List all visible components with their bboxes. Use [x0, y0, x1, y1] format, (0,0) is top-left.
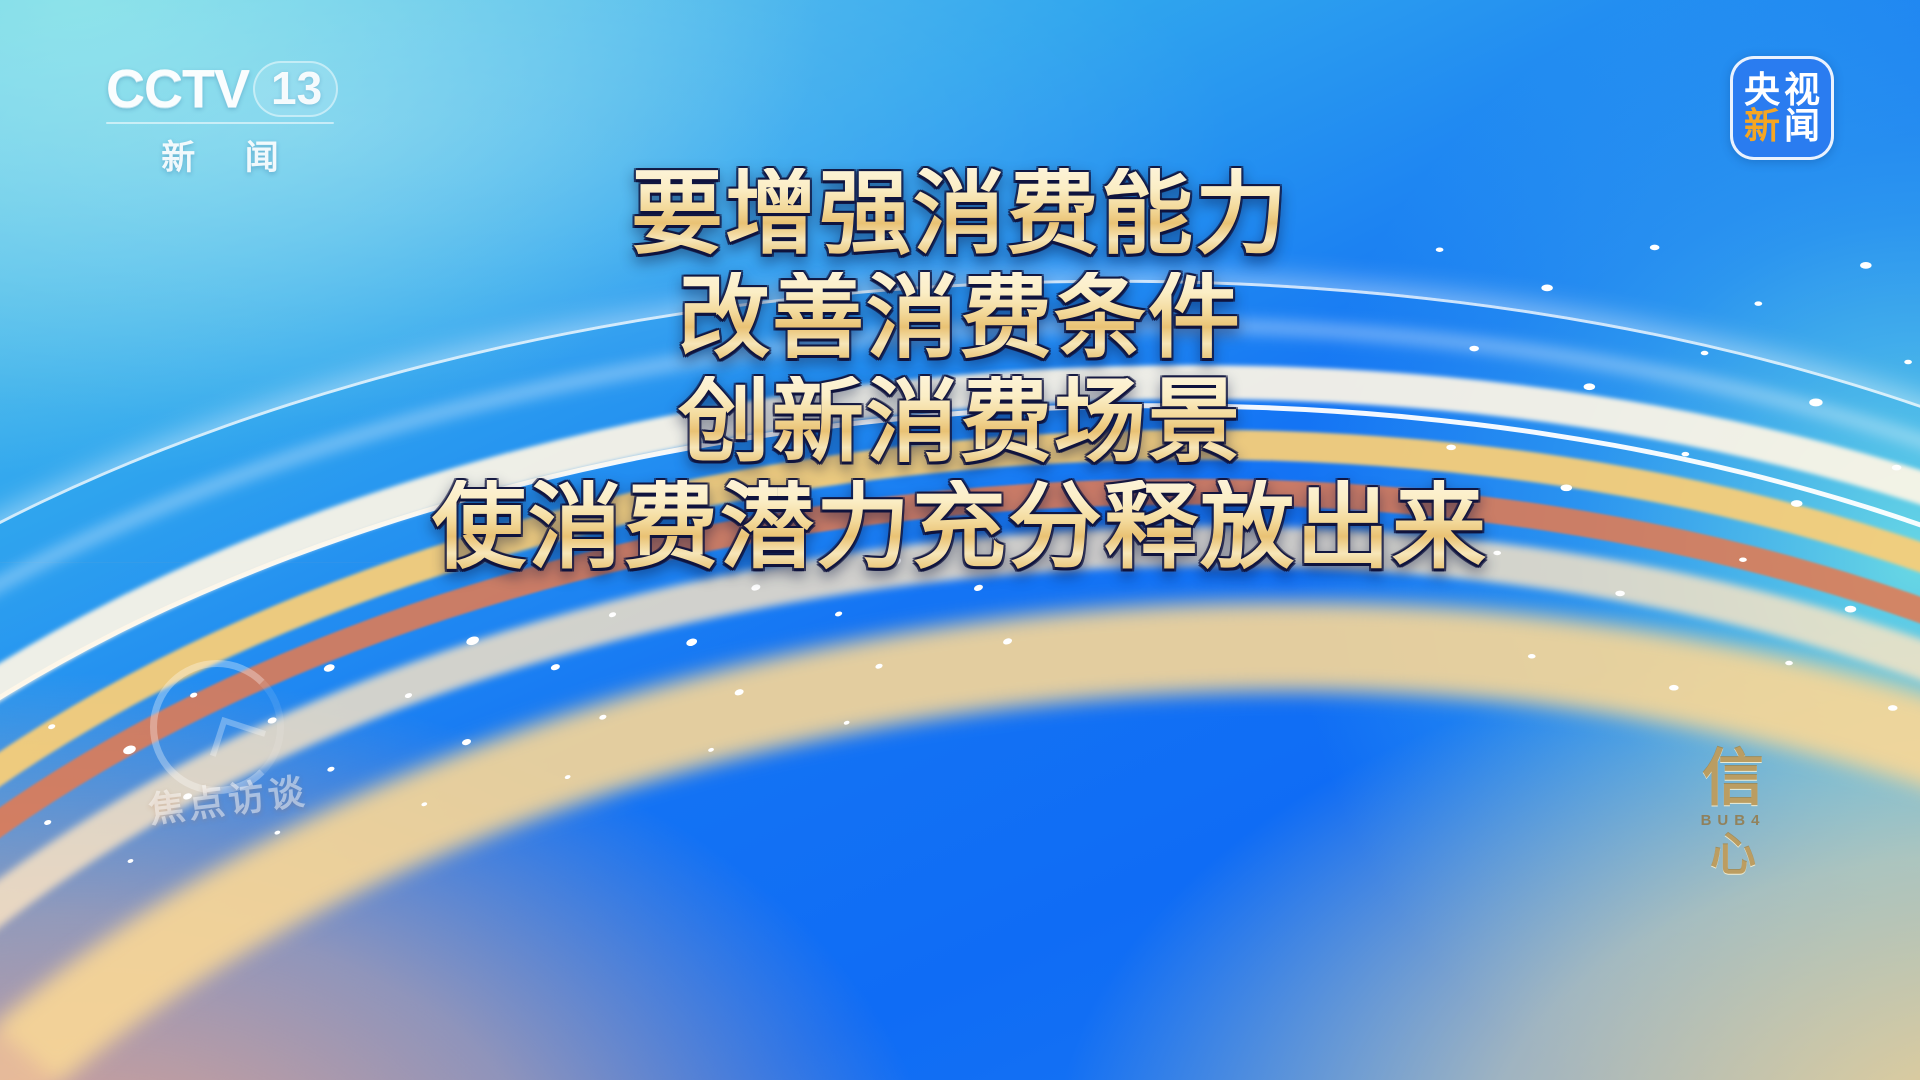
logo-mini-text: BUB4	[1658, 812, 1808, 829]
badge-char-yang: 央	[1742, 72, 1782, 108]
headline-block: 要增强消费能力 改善消费条件 创新消费场景 使消费潜力充分释放出来	[0, 168, 1920, 586]
cctv13-channel-logo: CCTV 13 新 闻	[106, 58, 366, 168]
cctv-channel-pill: 13	[253, 61, 338, 117]
logo-char-heart: 心	[1658, 831, 1808, 877]
headline-line-1: 要增强消费能力	[0, 168, 1920, 260]
broadcast-frame: CCTV 13 新 闻 央 视 新 闻 要增强消费能力 改善消费条件 创新消费场…	[0, 0, 1920, 1080]
warm-glow-layer	[0, 562, 1920, 1080]
cctv-wordmark: CCTV	[106, 62, 249, 116]
ribbon-arc-base	[0, 503, 1920, 1080]
cctv-logo-row: CCTV 13	[106, 58, 366, 120]
headline-line-2: 改善消费条件	[0, 272, 1920, 364]
cctv-news-badge: 央 视 新 闻	[1730, 56, 1834, 160]
badge-line-top: 央 视	[1742, 72, 1822, 108]
confidence-program-logo: 信 BUB4 心	[1658, 748, 1808, 888]
logo-char-xin: 信	[1658, 748, 1808, 810]
watermark-ring-icon	[150, 660, 284, 794]
watermark-label: 焦点访谈	[145, 762, 310, 833]
badge-char-wen: 闻	[1782, 108, 1822, 144]
badge-char-xin: 新	[1742, 108, 1782, 144]
badge-line-bottom: 新 闻	[1742, 108, 1822, 144]
headline-line-4: 使消费潜力充分释放出来	[0, 480, 1920, 574]
cctv-underline-rule	[106, 122, 334, 124]
badge-char-shi: 视	[1782, 72, 1822, 108]
program-watermark: 焦点访谈	[140, 660, 400, 860]
cctv-channel-number: 13	[271, 65, 322, 111]
headline-line-3: 创新消费场景	[0, 376, 1920, 468]
